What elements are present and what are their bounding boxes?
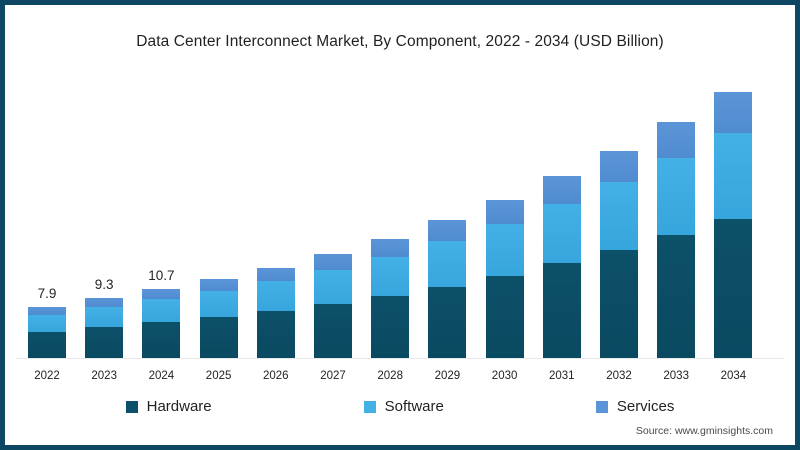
legend-item-services: Services [596, 398, 675, 415]
bar-segment-hardware [371, 296, 409, 358]
bar-stack [371, 239, 409, 358]
chart-figure: Data Center Interconnect Market, By Comp… [0, 0, 800, 450]
bar-stack [600, 151, 638, 358]
bar-segment-software [657, 158, 695, 235]
bar-segment-services [142, 289, 180, 299]
bar-segment-hardware [200, 317, 238, 358]
x-axis-tick-2022: 2022 [18, 370, 76, 382]
bar-stack [314, 254, 352, 358]
bar-stack [142, 289, 180, 358]
x-axis-tick-2030: 2030 [476, 370, 534, 382]
x-axis-tick-2024: 2024 [132, 370, 190, 382]
x-axis-tick-2023: 2023 [75, 370, 133, 382]
bar-stack [657, 122, 695, 358]
bar-segment-software [314, 270, 352, 304]
legend-label-hardware: Hardware [147, 398, 212, 415]
bar-segment-software [486, 224, 524, 276]
bar-segment-services [85, 298, 123, 307]
bar-segment-services [28, 307, 66, 315]
x-axis-tick-2029: 2029 [418, 370, 476, 382]
bar-segment-services [543, 176, 581, 204]
bar-segment-software [257, 281, 295, 311]
bar-segment-hardware [657, 235, 695, 358]
bar-segment-hardware [714, 219, 752, 358]
x-axis-tick-2033: 2033 [647, 370, 705, 382]
bar-stack [85, 298, 123, 358]
bar-stack [543, 176, 581, 358]
legend-label-services: Services [617, 398, 675, 415]
bar-segment-software [371, 257, 409, 296]
bar-segment-software [200, 291, 238, 317]
x-axis-tick-2025: 2025 [190, 370, 248, 382]
bar-value-label-2024: 10.7 [132, 268, 190, 283]
x-axis-tick-2032: 2032 [590, 370, 648, 382]
bar-stack [28, 307, 66, 358]
chart-legend: Hardware Software Services [0, 398, 800, 415]
bar-segment-services [486, 200, 524, 224]
bar-segment-services [200, 279, 238, 291]
bar-segment-software [428, 241, 466, 286]
bar-segment-software [714, 133, 752, 219]
bar-segment-software [142, 299, 180, 322]
bar-segment-hardware [543, 263, 581, 358]
bar-segment-software [85, 307, 123, 327]
bar-segment-hardware [142, 322, 180, 358]
bar-stack [200, 279, 238, 358]
bar-segment-services [257, 268, 295, 282]
bar-segment-services [428, 220, 466, 241]
legend-item-software: Software [364, 398, 444, 415]
bar-stack [486, 200, 524, 358]
bar-segment-hardware [428, 287, 466, 358]
x-axis-tick-2027: 2027 [304, 370, 362, 382]
bar-segment-services [314, 254, 352, 270]
legend-item-hardware: Hardware [126, 398, 212, 415]
bar-segment-services [657, 122, 695, 158]
legend-label-software: Software [385, 398, 444, 415]
bar-value-label-2022: 7.9 [18, 286, 76, 301]
bar-segment-software [600, 182, 638, 250]
bar-segment-hardware [257, 311, 295, 358]
bar-segment-services [714, 92, 752, 133]
bar-segment-hardware [600, 250, 638, 358]
bar-stack [428, 220, 466, 358]
bar-segment-software [543, 204, 581, 263]
bar-value-label-2023: 9.3 [75, 277, 133, 292]
x-axis-tick-2026: 2026 [247, 370, 305, 382]
legend-swatch-hardware [126, 401, 138, 413]
bar-stack [714, 92, 752, 358]
bar-segment-hardware [28, 332, 66, 358]
bar-segment-hardware [314, 304, 352, 358]
legend-swatch-services [596, 401, 608, 413]
x-axis-tick-2028: 2028 [361, 370, 419, 382]
legend-swatch-software [364, 401, 376, 413]
bar-segment-software [28, 315, 66, 332]
bar-segment-services [371, 239, 409, 257]
axis-baseline [16, 358, 784, 359]
bar-segment-hardware [486, 276, 524, 358]
x-axis-tick-2034: 2034 [704, 370, 762, 382]
source-attribution: Source: www.gminsights.com [636, 425, 773, 437]
bar-segment-services [600, 151, 638, 183]
bar-segment-hardware [85, 327, 123, 358]
bar-stack [257, 268, 295, 358]
x-axis-tick-2031: 2031 [533, 370, 591, 382]
plot-area: 7.920229.3202310.72024202520262027202820… [0, 0, 800, 450]
